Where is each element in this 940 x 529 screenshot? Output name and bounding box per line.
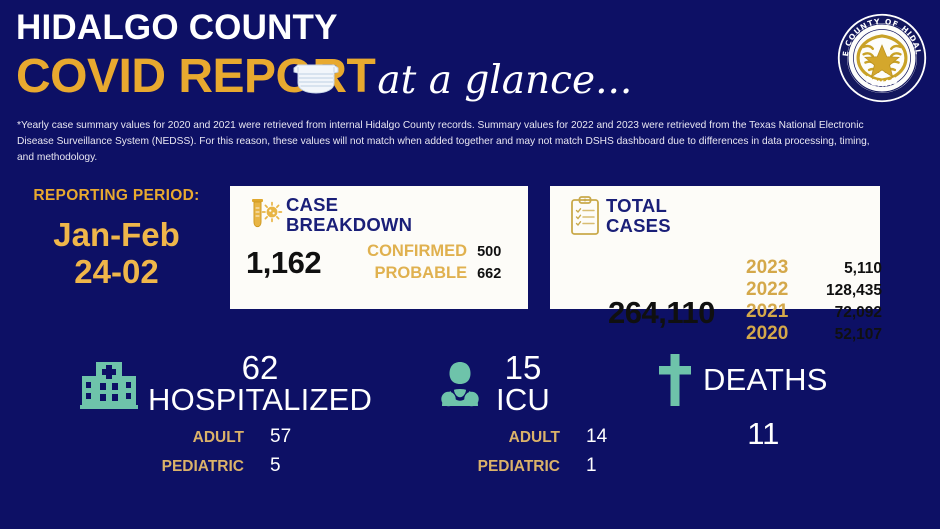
report-title: COVID REPORT — [16, 53, 375, 101]
probable-label: PROBABLE — [337, 263, 467, 285]
icu-adult-label: ADULT — [432, 426, 560, 450]
hospital-building-icon — [78, 356, 140, 412]
disclaimer-text: *Yearly case summary values for 2020 and… — [17, 118, 872, 165]
year-2021-label: 2021 — [746, 301, 798, 323]
year-2023-label: 2023 — [746, 257, 798, 279]
hospitalized-text: 62 HOSPITALIZED — [148, 352, 372, 416]
page-title: HIDALGO COUNTY — [16, 10, 806, 45]
total-cases-card: TOTAL CASES 264,110 2023 5,110 2022 128,… — [550, 186, 880, 309]
year-2023-value: 5,110 — [798, 260, 882, 278]
hospitalized-pediatric-label: PEDIATRIC — [104, 455, 244, 479]
deaths-stat: DEATHS 11 — [655, 352, 828, 452]
year-2021-value: 72,092 — [798, 304, 882, 322]
icu-pediatric-label: PEDIATRIC — [432, 455, 560, 479]
table-row: 2021 72,092 — [746, 301, 882, 323]
icu-text: 15 ICU — [496, 352, 550, 416]
hospitalized-pediatric-value: 5 — [270, 451, 330, 480]
case-breakdown-title: CASE BREAKDOWN — [286, 195, 412, 235]
reporting-period-label: REPORTING PERIOD: — [14, 187, 219, 205]
patient-stethoscope-icon — [432, 356, 488, 412]
report-title-row: COVID REPORT at a glance... — [16, 47, 806, 101]
hospitalized-adult-value: 57 — [270, 422, 330, 451]
deaths-top: DEATHS — [655, 352, 828, 408]
county-seal: THE COUNTY OF HIDALGO TEXAS — [836, 12, 928, 104]
total-cases-total-wrap: 264,110 — [608, 295, 715, 331]
icu-label: ICU — [496, 384, 550, 416]
case-breakdown-header: CASE BREAKDOWN — [230, 186, 528, 235]
table-row: ADULT 57 — [104, 422, 372, 451]
reporting-period-dates: 24-02 — [14, 254, 219, 291]
table-row: PEDIATRIC 5 — [104, 451, 372, 480]
case-breakdown-title-line1: CASE — [286, 195, 412, 215]
reporting-period-months: Jan-Feb — [14, 217, 219, 254]
header: HIDALGO COUNTY COVID REPORT at a glance.… — [16, 10, 806, 101]
table-row: PROBABLE 662 — [337, 263, 525, 285]
hospitalized-number: 62 — [148, 352, 372, 384]
test-tube-virus-icon — [244, 196, 286, 234]
year-2020-value: 52,107 — [798, 326, 882, 344]
year-2020-label: 2020 — [746, 323, 798, 345]
total-cases-total: 264,110 — [608, 295, 715, 331]
icu-rows: ADULT 14 PEDIATRIC 1 — [432, 422, 636, 481]
hospitalized-rows: ADULT 57 PEDIATRIC 5 — [104, 422, 372, 481]
deaths-number: 11 — [699, 416, 828, 452]
icu-top: 15 ICU — [432, 352, 636, 416]
case-breakdown-card: CASE BREAKDOWN 1,162 CONFIRMED 500 PROBA… — [230, 186, 528, 309]
table-row: PEDIATRIC 1 — [432, 451, 636, 480]
case-breakdown-body: 1,162 CONFIRMED 500 PROBABLE 662 — [230, 235, 528, 285]
total-cases-title: TOTAL CASES — [606, 196, 671, 236]
yearly-breakdown-table: 2023 5,110 2022 128,435 2021 72,092 2020… — [746, 257, 882, 345]
icu-pediatric-value: 1 — [586, 451, 636, 480]
reporting-period: REPORTING PERIOD: Jan-Feb 24-02 — [14, 187, 219, 291]
reporting-period-value: Jan-Feb 24-02 — [14, 217, 219, 291]
deaths-text: DEATHS — [703, 364, 828, 396]
covid-report-infographic: HIDALGO COUNTY COVID REPORT at a glance.… — [0, 0, 940, 529]
probable-value: 662 — [477, 265, 525, 284]
table-row: 2023 5,110 — [746, 257, 882, 279]
deaths-label: DEATHS — [703, 364, 828, 396]
table-row: CONFIRMED 500 — [337, 241, 525, 263]
hospitalized-label: HOSPITALIZED — [148, 384, 372, 416]
hospitalized-top: 62 HOSPITALIZED — [78, 352, 372, 416]
table-row: ADULT 14 — [432, 422, 636, 451]
confirmed-label: CONFIRMED — [337, 241, 467, 263]
case-breakdown-total: 1,162 — [246, 245, 321, 281]
icu-adult-value: 14 — [586, 422, 636, 451]
tagline: at a glance... — [377, 61, 632, 100]
total-cases-title-line1: TOTAL — [606, 196, 671, 216]
year-2022-label: 2022 — [746, 279, 798, 301]
total-cases-header: TOTAL CASES — [550, 186, 880, 237]
year-2022-value: 128,435 — [798, 282, 882, 300]
clipboard-checklist-icon — [564, 195, 606, 237]
total-cases-title-line2: CASES — [606, 216, 671, 236]
case-breakdown-rows: CONFIRMED 500 PROBABLE 662 — [337, 241, 525, 285]
icu-number: 15 — [496, 352, 550, 384]
cross-icon — [655, 352, 695, 408]
hospitalized-adult-label: ADULT — [104, 426, 244, 450]
case-breakdown-title-line2: BREAKDOWN — [286, 215, 412, 235]
table-row: 2020 52,107 — [746, 323, 882, 345]
table-row: 2022 128,435 — [746, 279, 882, 301]
icu-stat: 15 ICU ADULT 14 PEDIATRIC 1 — [432, 352, 636, 481]
confirmed-value: 500 — [477, 243, 525, 262]
hospitalized-stat: 62 HOSPITALIZED ADULT 57 PEDIATRIC 5 — [78, 352, 372, 481]
